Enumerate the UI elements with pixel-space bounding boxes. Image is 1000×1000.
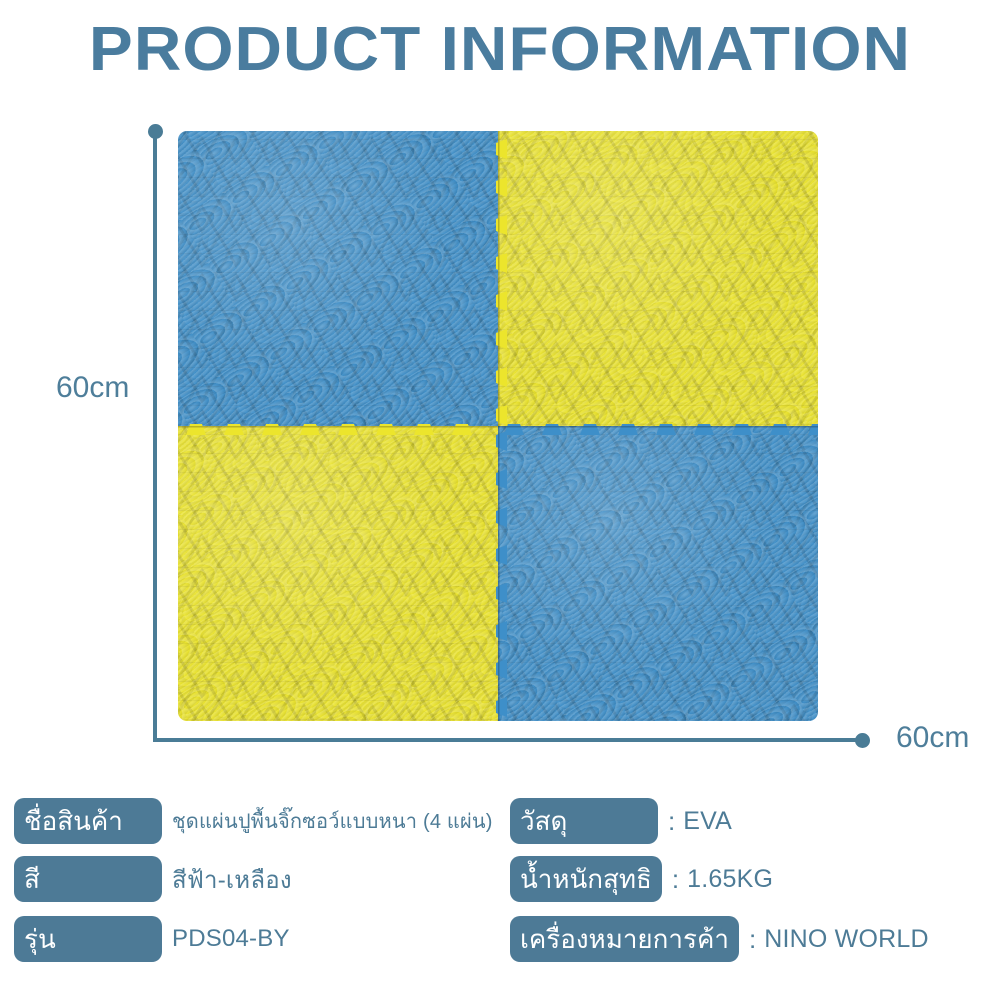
mat-shading	[178, 426, 498, 721]
mat-tile-bottom-left	[178, 426, 498, 721]
spec-label-material: วัสดุ	[510, 798, 658, 844]
jigsaw-seam-horizontal	[178, 419, 818, 435]
spec-label-model: รุ่น	[14, 916, 162, 962]
mat-tile-top-right	[498, 131, 818, 426]
spec-separator: :	[749, 924, 756, 955]
mat-shading	[178, 131, 498, 426]
spec-label-product-name: ชื่อสินค้า	[14, 798, 162, 844]
dimension-guide-vertical	[153, 132, 157, 742]
mat-tile-top-left	[178, 131, 498, 426]
mat-shading	[498, 426, 818, 721]
page-title: PRODUCT INFORMATION	[0, 14, 1000, 85]
spec-label-trademark: เครื่องหมายการค้า	[510, 916, 739, 962]
dimension-label-height: 60cm	[56, 371, 129, 405]
spec-row: รุ่น PDS04-BY	[14, 916, 290, 962]
mat-tile-bottom-right	[498, 426, 818, 721]
spec-value-trademark: NINO WORLD	[764, 925, 929, 954]
dimension-endpoint-dot-right	[855, 733, 870, 748]
spec-value-product-name: ชุดแผ่นปูพื้นจิ๊กซอว์แบบหนา (4 แผ่น)	[172, 805, 493, 837]
spec-separator: :	[672, 864, 679, 895]
spec-label-net-weight: น้ำหนักสุทธิ	[510, 856, 662, 902]
spec-table: ชื่อสินค้า ชุดแผ่นปูพื้นจิ๊กซอว์แบบหนา (…	[0, 798, 1000, 998]
spec-row: เครื่องหมายการค้า : NINO WORLD	[510, 916, 929, 962]
mat-shading	[498, 131, 818, 426]
dimension-endpoint-dot-top	[148, 124, 163, 139]
spec-value-model: PDS04-BY	[172, 925, 290, 953]
dimension-label-width: 60cm	[896, 721, 969, 755]
spec-row: น้ำหนักสุทธิ : 1.65KG	[510, 856, 773, 902]
spec-value-material: EVA	[683, 807, 732, 836]
spec-value-color: สีฟ้า-เหลือง	[172, 860, 292, 899]
spec-row: สี สีฟ้า-เหลือง	[14, 856, 292, 902]
spec-row: ชื่อสินค้า ชุดแผ่นปูพื้นจิ๊กซอว์แบบหนา (…	[14, 798, 493, 844]
dimension-guide-horizontal	[153, 738, 863, 742]
spec-separator: :	[668, 806, 675, 837]
spec-label-color: สี	[14, 856, 162, 902]
spec-value-net-weight: 1.65KG	[687, 865, 773, 894]
product-mat-image	[178, 131, 818, 721]
spec-row: วัสดุ : EVA	[510, 798, 732, 844]
